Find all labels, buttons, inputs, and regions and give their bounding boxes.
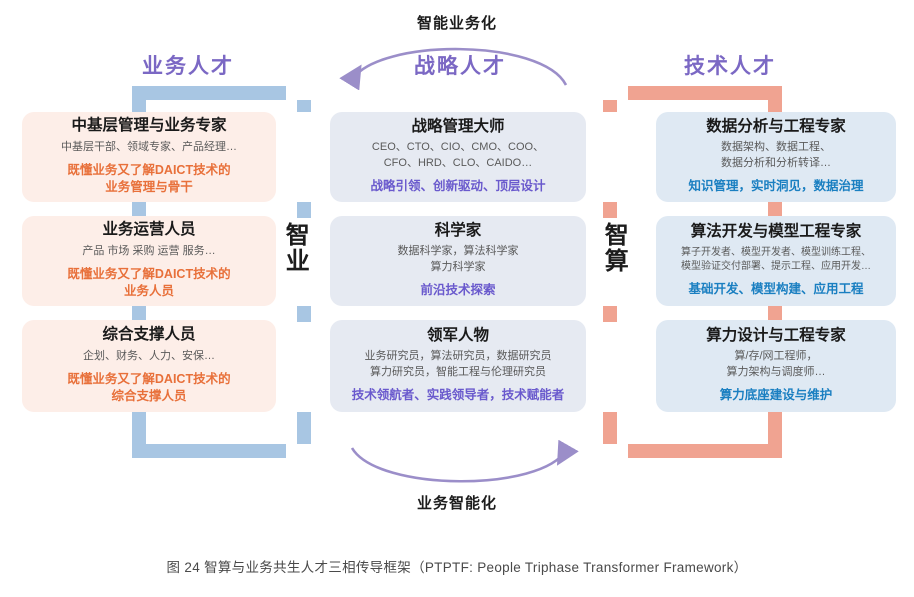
card-tag: 战略引领、创新驱动、顶层设计 bbox=[340, 178, 576, 195]
diagram-canvas: 智能业务化 业务智能化 bbox=[0, 0, 914, 597]
card-business-1[interactable]: 中基层管理与业务专家 中基层干部、领域专家、产品经理… 既懂业务又了解DAICT… bbox=[22, 112, 276, 202]
card-strategy-2[interactable]: 科学家 数据科学家，算法科学家 算力科学家 前沿技术探索 bbox=[330, 216, 586, 306]
card-subtitle: 算子开发者、模型开发者、模型训练工程、 模型验证交付部署、提示工程、应用开发… bbox=[666, 246, 886, 275]
card-tag: 前沿技术探索 bbox=[340, 282, 576, 299]
card-title: 算力设计与工程专家 bbox=[666, 326, 886, 345]
card-title: 综合支撑人员 bbox=[32, 325, 266, 344]
column-heading-strategy: 战略人才 bbox=[370, 50, 550, 80]
card-tag: 既懂业务又了解DAICT技术的 综合支撑人员 bbox=[32, 371, 266, 405]
card-subtitle: 产品 市场 采购 运营 服务… bbox=[32, 244, 266, 260]
card-tag: 算力底座建设与维护 bbox=[666, 387, 886, 404]
card-subtitle: 数据架构、数据工程、 数据分析和分析转译… bbox=[666, 140, 886, 172]
card-subtitle: 企划、财务、人力、安保… bbox=[32, 349, 266, 365]
card-title: 领军人物 bbox=[340, 326, 576, 345]
card-technology-2[interactable]: 算法开发与模型工程专家 算子开发者、模型开发者、模型训练工程、 模型验证交付部署… bbox=[656, 216, 896, 306]
card-tag: 知识管理，实时洞见，数据治理 bbox=[666, 178, 886, 195]
column-heading-technology: 技术人才 bbox=[640, 50, 820, 80]
card-title: 战略管理大师 bbox=[340, 117, 576, 136]
card-strategy-1[interactable]: 战略管理大师 CEO、CTO、CIO、CMO、COO、 CFO、HRD、CLO、… bbox=[330, 112, 586, 202]
card-tag: 既懂业务又了解DAICT技术的 业务人员 bbox=[32, 266, 266, 300]
card-title: 业务运营人员 bbox=[32, 220, 266, 239]
card-technology-1[interactable]: 数据分析与工程专家 数据架构、数据工程、 数据分析和分析转译… 知识管理，实时洞… bbox=[656, 112, 896, 202]
card-title: 科学家 bbox=[340, 221, 576, 240]
arrow-left-to-right-icon bbox=[330, 440, 590, 500]
card-subtitle: 业务研究员，算法研究员，数据研究员 算力研究员，智能工程与伦理研究员 bbox=[340, 349, 576, 381]
card-tag: 基础开发、模型构建、应用工程 bbox=[666, 281, 886, 298]
cycle-label-bottom: 业务智能化 bbox=[357, 492, 557, 513]
axis-label-zhisuan: 智算 bbox=[601, 222, 626, 274]
axis-label-zhiye: 智业 bbox=[282, 222, 307, 274]
card-title: 算法开发与模型工程专家 bbox=[666, 222, 886, 241]
card-tag: 技术领航者、实践领导者，技术赋能者 bbox=[340, 387, 576, 404]
card-strategy-3[interactable]: 领军人物 业务研究员，算法研究员，数据研究员 算力研究员，智能工程与伦理研究员 … bbox=[330, 320, 586, 412]
card-tag: 既懂业务又了解DAICT技术的 业务管理与骨干 bbox=[32, 162, 266, 196]
card-business-2[interactable]: 业务运营人员 产品 市场 采购 运营 服务… 既懂业务又了解DAICT技术的 业… bbox=[22, 216, 276, 306]
card-business-3[interactable]: 综合支撑人员 企划、财务、人力、安保… 既懂业务又了解DAICT技术的 综合支撑… bbox=[22, 320, 276, 412]
column-heading-business: 业务人才 bbox=[98, 50, 278, 80]
card-title: 数据分析与工程专家 bbox=[666, 117, 886, 136]
card-subtitle: 数据科学家，算法科学家 算力科学家 bbox=[340, 244, 576, 276]
card-subtitle: 中基层干部、领域专家、产品经理… bbox=[32, 140, 266, 156]
cycle-label-top: 智能业务化 bbox=[357, 12, 557, 33]
card-technology-3[interactable]: 算力设计与工程专家 算/存/网工程师， 算力架构与调度师… 算力底座建设与维护 bbox=[656, 320, 896, 412]
figure-caption: 图 24 智算与业务共生人才三相传导框架（PTPTF: People Triph… bbox=[0, 556, 914, 576]
card-subtitle: CEO、CTO、CIO、CMO、COO、 CFO、HRD、CLO、CAIDO… bbox=[340, 140, 576, 172]
card-title: 中基层管理与业务专家 bbox=[32, 116, 266, 135]
card-subtitle: 算/存/网工程师， 算力架构与调度师… bbox=[666, 349, 886, 381]
